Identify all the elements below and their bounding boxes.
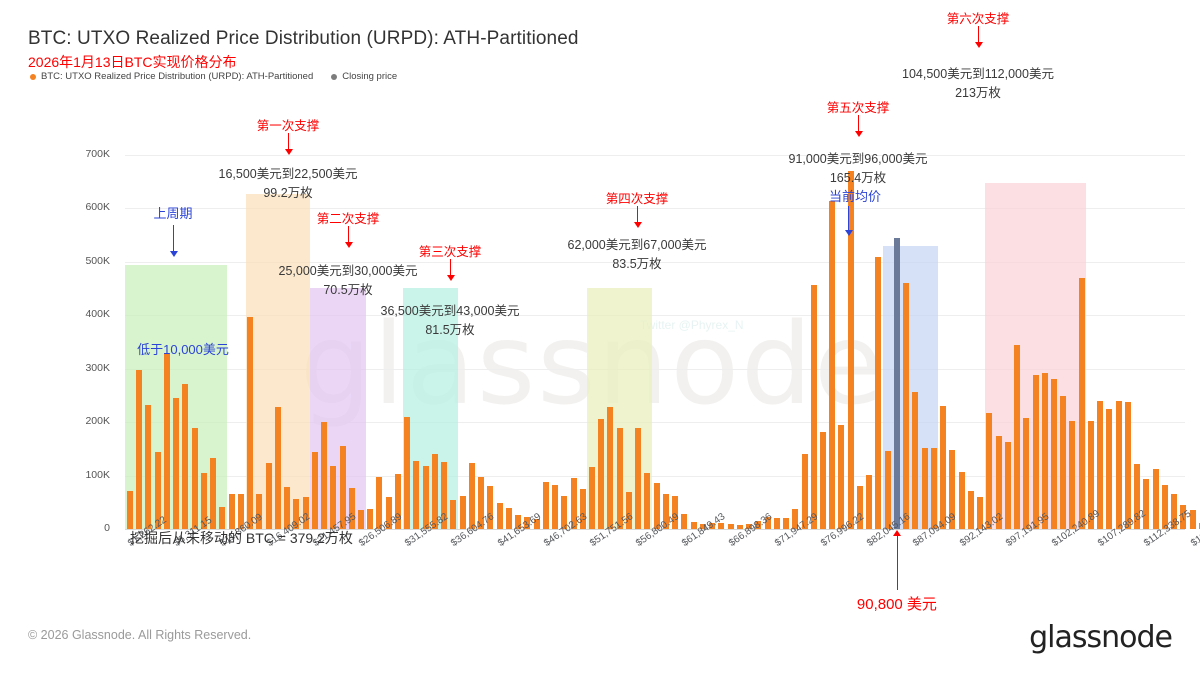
- annotation-support-2-arrow: [348, 226, 349, 242]
- urpd-bar[interactable]: [940, 406, 946, 529]
- annotation-support-5-range: 91,000美元到96,000美元: [789, 148, 928, 167]
- urpd-bar[interactable]: [247, 317, 253, 529]
- copyright-text: © 2026 Glassnode. All Rights Reserved.: [28, 628, 251, 642]
- urpd-bar[interactable]: [1143, 479, 1149, 529]
- urpd-bar[interactable]: [885, 451, 891, 529]
- urpd-bar[interactable]: [1014, 345, 1020, 529]
- price-marker-label: 90,800 美元: [857, 593, 937, 614]
- urpd-bar[interactable]: [1033, 375, 1039, 529]
- urpd-bar[interactable]: [1125, 402, 1131, 529]
- annotation-support-1-amount: 99.2万枚: [263, 182, 312, 201]
- urpd-bar[interactable]: [506, 508, 512, 529]
- annotation-support-2-amount: 70.5万枚: [323, 279, 372, 298]
- urpd-bar[interactable]: [1153, 469, 1159, 529]
- annotation-support-6-amount: 213万枚: [955, 82, 1001, 101]
- urpd-bar[interactable]: [497, 503, 503, 529]
- closing-price-bar[interactable]: [894, 238, 900, 529]
- annotation-support-6-arrow-head: [975, 42, 983, 48]
- urpd-bar[interactable]: [460, 496, 466, 529]
- gridline: [125, 155, 1185, 156]
- urpd-bar[interactable]: [450, 500, 456, 529]
- urpd-bar[interactable]: [404, 417, 410, 529]
- urpd-bar[interactable]: [644, 473, 650, 529]
- annotation-support-3-arrow: [450, 259, 451, 275]
- urpd-bar[interactable]: [931, 448, 937, 529]
- urpd-bar[interactable]: [136, 370, 142, 529]
- annotation-support-5-arrow-head: [855, 131, 863, 137]
- y-axis-tick-label: 200K: [64, 415, 110, 427]
- annotation-current-price-arrow: [848, 206, 849, 230]
- annotation-support-6-arrow: [978, 26, 979, 42]
- annotation-support-3-arrow-head: [447, 275, 455, 281]
- urpd-bar[interactable]: [820, 432, 826, 529]
- annotation-prev-cycle-arrow-head: [170, 251, 178, 257]
- urpd-bar[interactable]: [617, 428, 623, 530]
- price-marker-line: [897, 536, 898, 590]
- annotation-support-4-arrow-head: [634, 222, 642, 228]
- urpd-bar[interactable]: [598, 419, 604, 529]
- urpd-bar[interactable]: [903, 283, 909, 529]
- watermark-handle: Twitter @Phyrex_N: [640, 318, 744, 332]
- annotation-support-3-range: 36,500美元到43,000美元: [381, 300, 520, 319]
- annotation-support-4-arrow: [637, 206, 638, 222]
- annotation-support-2-arrow-head: [345, 242, 353, 248]
- y-axis-tick-label: 500K: [64, 255, 110, 267]
- annotation-prev-cycle-arrow: [173, 225, 174, 251]
- urpd-bar[interactable]: [552, 485, 558, 529]
- annotation-support-1-title: 第一次支撑: [257, 115, 320, 134]
- urpd-bar[interactable]: [968, 491, 974, 529]
- urpd-bar[interactable]: [164, 353, 170, 529]
- urpd-bar[interactable]: [275, 407, 281, 529]
- urpd-bar[interactable]: [635, 428, 641, 530]
- urpd-bar[interactable]: [423, 466, 429, 529]
- urpd-bar[interactable]: [1023, 418, 1029, 529]
- urpd-bar[interactable]: [866, 475, 872, 529]
- urpd-bar[interactable]: [1051, 379, 1057, 529]
- urpd-bar[interactable]: [1106, 409, 1112, 529]
- urpd-bar[interactable]: [1060, 396, 1066, 529]
- urpd-bar[interactable]: [829, 201, 835, 529]
- urpd-bar[interactable]: [145, 405, 151, 529]
- urpd-bar[interactable]: [783, 518, 789, 529]
- annotation-support-5-arrow: [858, 115, 859, 131]
- urpd-bar[interactable]: [413, 461, 419, 529]
- y-axis-tick-label: 100K: [64, 469, 110, 481]
- urpd-bar[interactable]: [229, 494, 235, 529]
- urpd-bar[interactable]: [607, 407, 613, 529]
- urpd-bar[interactable]: [922, 448, 928, 529]
- urpd-bar[interactable]: [127, 491, 133, 529]
- annotation-prev-cycle-detail: 低于10,000美元: [137, 339, 229, 358]
- y-axis-tick-label: 300K: [64, 362, 110, 374]
- annotation-support-6-range: 104,500美元到112,000美元: [902, 63, 1054, 82]
- urpd-bar[interactable]: [728, 524, 734, 529]
- urpd-bar[interactable]: [312, 452, 318, 529]
- y-axis-tick-label: 400K: [64, 308, 110, 320]
- urpd-bar[interactable]: [875, 257, 881, 529]
- annotation-support-3-title: 第三次支撑: [419, 241, 482, 260]
- urpd-bar[interactable]: [912, 392, 918, 529]
- annotation-support-1-arrow-head: [285, 149, 293, 155]
- urpd-bar[interactable]: [1116, 401, 1122, 529]
- urpd-bar[interactable]: [266, 463, 272, 529]
- urpd-bar[interactable]: [1069, 421, 1075, 529]
- urpd-bar[interactable]: [811, 285, 817, 529]
- axis-note: 挖掘后从未移动的 BTC = 379.2万枚: [130, 528, 353, 548]
- x-axis-tick-label: $61,849.43: [680, 511, 727, 549]
- y-axis-tick-label: 0: [64, 522, 110, 534]
- urpd-bar[interactable]: [589, 467, 595, 529]
- urpd-bar[interactable]: [330, 466, 336, 529]
- annotation-support-2-title: 第二次支撑: [317, 208, 380, 227]
- annotation-support-3-amount: 81.5万枚: [425, 319, 474, 338]
- urpd-bar[interactable]: [469, 463, 475, 529]
- annotation-current-price-title: 当前均价: [829, 186, 881, 205]
- urpd-bar[interactable]: [192, 428, 198, 529]
- annotation-support-4-title: 第四次支撑: [606, 188, 669, 207]
- urpd-bar[interactable]: [1079, 278, 1085, 529]
- urpd-bar[interactable]: [321, 422, 327, 529]
- urpd-bar[interactable]: [681, 514, 687, 529]
- urpd-bar[interactable]: [358, 510, 364, 529]
- price-marker-arrow-head: [893, 530, 901, 536]
- urpd-bar[interactable]: [1042, 373, 1048, 529]
- annotation-prev-cycle-title: 上周期: [153, 203, 192, 222]
- urpd-bar[interactable]: [543, 482, 549, 529]
- urpd-bar[interactable]: [173, 398, 179, 529]
- chart-plot-area[interactable]: glassnode Twitter @Phyrex_N 0100K200K300…: [0, 0, 1200, 675]
- urpd-bar[interactable]: [367, 509, 373, 529]
- annotation-support-1-range: 16,500美元到22,500美元: [219, 163, 358, 182]
- urpd-bar[interactable]: [1097, 401, 1103, 529]
- urpd-bar[interactable]: [1005, 442, 1011, 529]
- x-axis-tick-label: $66,898.36: [727, 511, 774, 549]
- annotation-support-5-amount: 165.4万枚: [830, 167, 886, 186]
- urpd-bar[interactable]: [986, 413, 992, 529]
- annotation-support-2-range: 25,000美元到30,000美元: [279, 260, 418, 279]
- urpd-bar[interactable]: [182, 384, 188, 529]
- urpd-bar[interactable]: [219, 507, 225, 529]
- support-2-band: [310, 288, 365, 529]
- y-axis-tick-label: 600K: [64, 201, 110, 213]
- urpd-bar[interactable]: [838, 425, 844, 529]
- urpd-bar[interactable]: [959, 472, 965, 529]
- annotation-support-6-title: 第六次支撑: [947, 8, 1010, 27]
- y-axis-tick-label: 700K: [64, 148, 110, 160]
- annotation-support-1-arrow: [288, 133, 289, 149]
- annotation-support-4-range: 62,000美元到67,000美元: [568, 234, 707, 253]
- annotation-current-price-arrow-head: [845, 230, 853, 236]
- annotation-support-4-amount: 83.5万枚: [612, 253, 661, 272]
- glassnode-logo: glassnode: [1029, 620, 1172, 655]
- annotation-support-5-title: 第五次支撑: [827, 97, 890, 116]
